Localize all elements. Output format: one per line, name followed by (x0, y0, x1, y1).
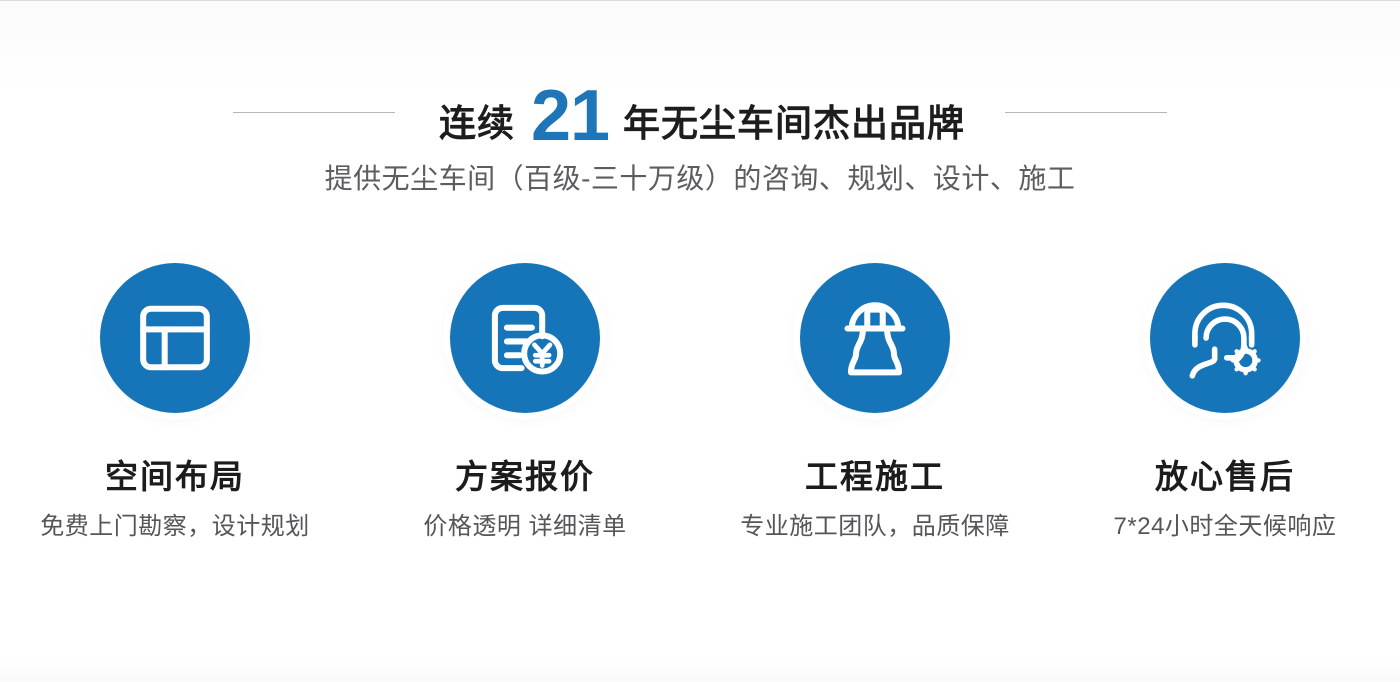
headline-years-number: 21 (531, 80, 609, 152)
feature-title: 放心售后 (1155, 460, 1295, 493)
headline: 连续 21 年无尘车间杰出品牌 (439, 76, 965, 148)
feature-description: 7*24小时全天候响应 (1114, 515, 1337, 539)
feature-description: 价格透明 详细清单 (423, 515, 626, 539)
feature-item-space-layout[interactable]: 空间布局 免费上门勘察，设计规划 (0, 263, 350, 539)
layout-grid-icon (132, 295, 218, 381)
construction-worker-icon (832, 295, 918, 381)
feature-description: 专业施工团队，品质保障 (740, 515, 1010, 539)
feature-description: 免费上门勘察，设计规划 (40, 515, 310, 539)
headline-row: 连续 21 年无尘车间杰出品牌 (0, 79, 1400, 145)
headline-prefix: 连续 (439, 105, 515, 142)
decorative-rule-left (233, 112, 395, 113)
promo-banner: 连续 21 年无尘车间杰出品牌 提供无尘车间（百级-三十万级）的咨询、规划、设计… (0, 0, 1400, 682)
icon-circle-after-sales (1150, 263, 1300, 413)
quote-document-yen-icon (482, 295, 568, 381)
icon-circle-quotation (450, 263, 600, 413)
headline-suffix: 年无尘车间杰出品牌 (623, 105, 965, 142)
feature-item-construction[interactable]: 工程施工 专业施工团队，品质保障 (700, 263, 1050, 539)
feature-title: 方案报价 (455, 460, 595, 493)
feature-list: 空间布局 免费上门勘察，设计规划 方案报价 价格透明 详细清单 (0, 263, 1400, 539)
headset-support-gear-icon (1182, 295, 1268, 381)
feature-title: 工程施工 (805, 460, 945, 493)
feature-item-quotation[interactable]: 方案报价 价格透明 详细清单 (350, 263, 700, 539)
feature-item-after-sales[interactable]: 放心售后 7*24小时全天候响应 (1050, 263, 1400, 539)
decorative-rule-right (1005, 112, 1167, 113)
headline-block: 连续 21 年无尘车间杰出品牌 提供无尘车间（百级-三十万级）的咨询、规划、设计… (0, 79, 1400, 197)
feature-title: 空间布局 (105, 460, 245, 493)
icon-circle-construction (800, 263, 950, 413)
icon-circle-space-layout (100, 263, 250, 413)
headline-subtitle: 提供无尘车间（百级-三十万级）的咨询、规划、设计、施工 (0, 161, 1400, 197)
